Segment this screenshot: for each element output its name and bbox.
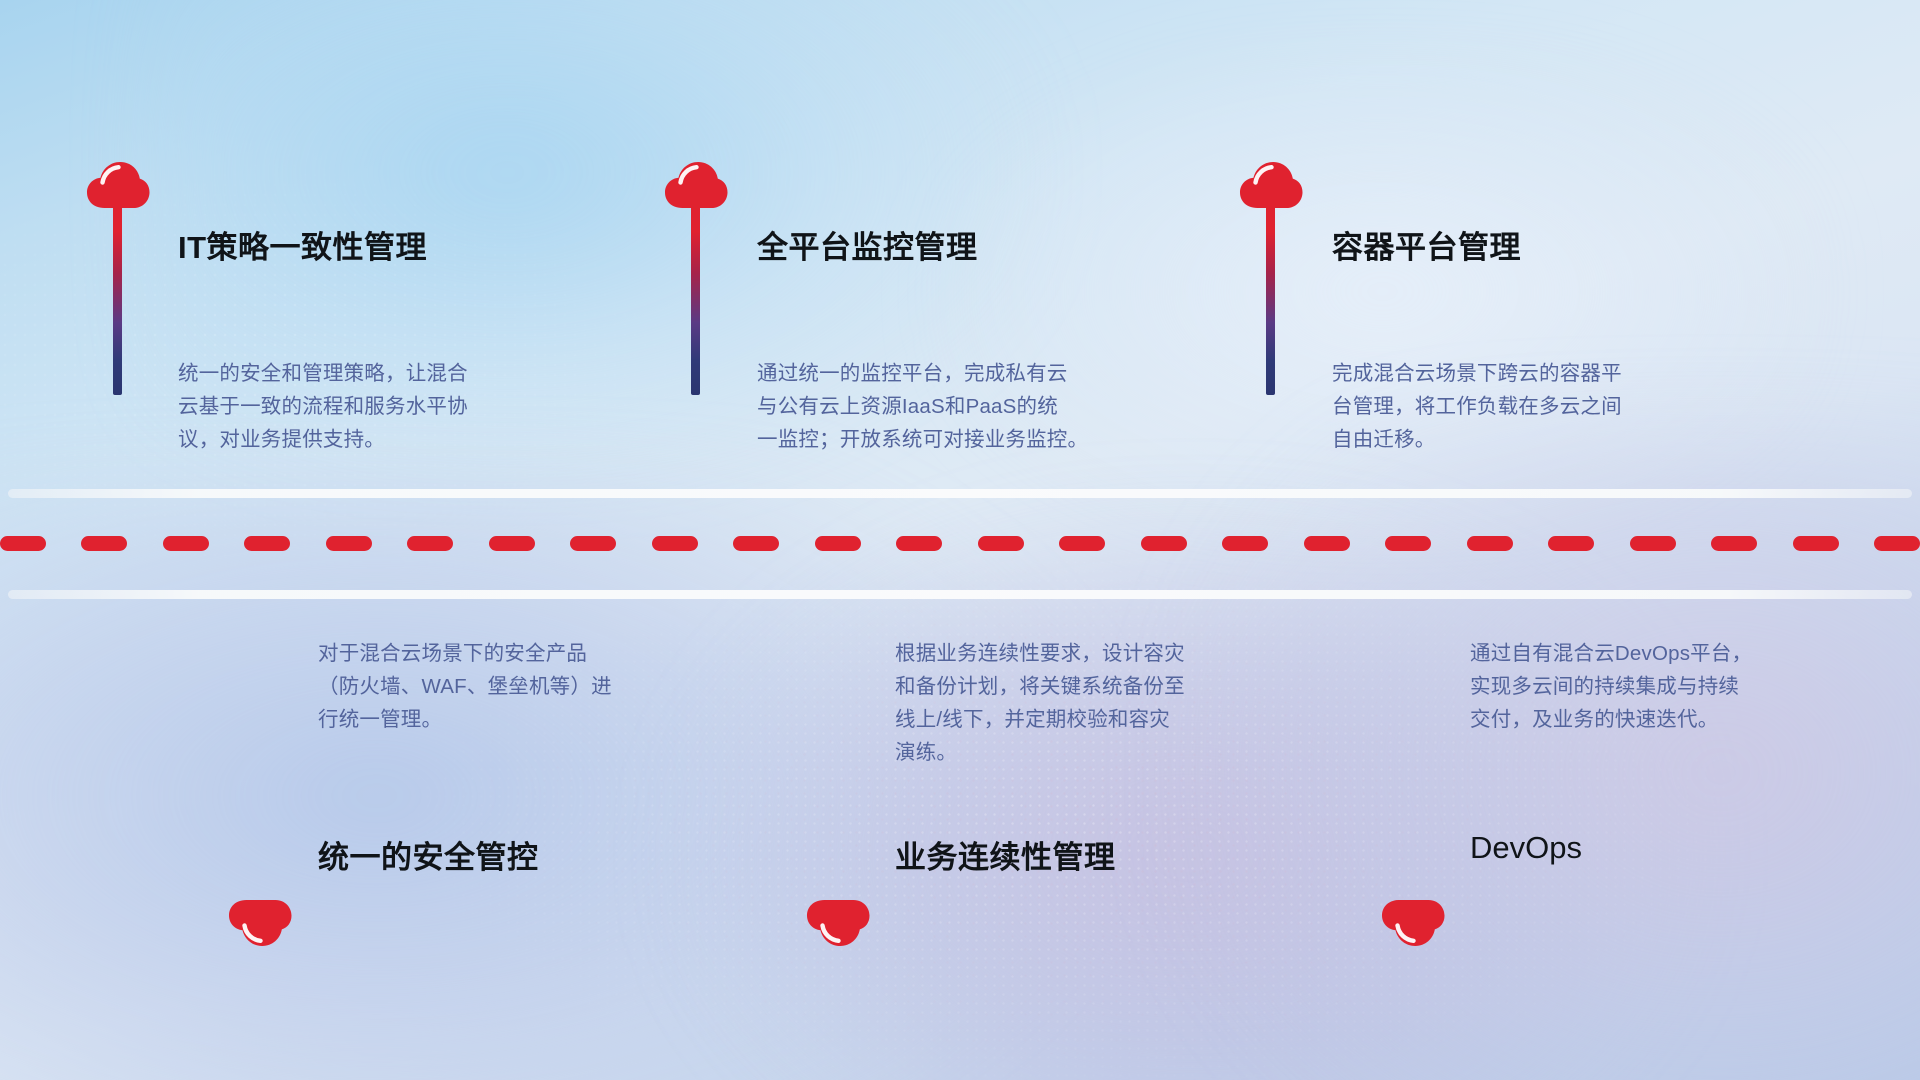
capability-title: 统一的安全管控 — [318, 832, 539, 877]
capability-title: 容器平台管理 — [1332, 222, 1521, 267]
divider-dash — [733, 536, 779, 551]
divider-dash — [1793, 536, 1839, 551]
divider-dash — [1304, 536, 1350, 551]
divider-dash — [1059, 536, 1105, 551]
divider-dash — [81, 536, 127, 551]
stem-connector — [113, 205, 122, 395]
capability-description: 通过统一的监控平台，完成私有云 与公有云上资源IaaS和PaaS的统 一监控；开… — [757, 357, 1187, 456]
cloud-icon — [1380, 898, 1446, 948]
divider-dash — [407, 536, 453, 551]
divider-rail-bottom — [8, 590, 1912, 599]
divider-dash — [1222, 536, 1268, 551]
stem-connector — [1266, 205, 1275, 395]
stem-connector — [691, 205, 700, 395]
divider-dash — [978, 536, 1024, 551]
capability-title: IT策略一致性管理 — [178, 222, 427, 267]
capability-description: 完成混合云场景下跨云的容器平 台管理，将工作负载在多云之间 自由迁移。 — [1332, 357, 1762, 456]
cloud-icon — [227, 898, 293, 948]
divider-dash — [815, 536, 861, 551]
divider-dash — [896, 536, 942, 551]
cloud-icon — [805, 898, 871, 948]
timeline-divider — [0, 489, 1920, 599]
capability-description: 统一的安全和管理策略，让混合 云基于一致的流程和服务水平协 议，对业务提供支持。 — [178, 357, 608, 456]
divider-dash — [489, 536, 535, 551]
capability-description: 根据业务连续性要求，设计容灾 和备份计划，将关键系统备份至 线上/线下，并定期校… — [895, 637, 1325, 769]
cloud-icon — [1238, 160, 1304, 210]
capability-title: DevOps — [1470, 830, 1582, 866]
cloud-icon — [85, 160, 151, 210]
divider-dash — [1385, 536, 1431, 551]
divider-dash — [1874, 536, 1920, 551]
stem-connector — [833, 625, 842, 890]
capability-description: 通过自有混合云DevOps平台， 实现多云间的持续集成与持续 交付，及业务的快速… — [1470, 637, 1900, 736]
divider-dash — [244, 536, 290, 551]
divider-dash — [1711, 536, 1757, 551]
divider-dash — [1141, 536, 1187, 551]
capability-description: 对于混合云场景下的安全产品 （防火墙、WAF、堡垒机等）进 行统一管理。 — [318, 637, 748, 736]
divider-dash — [570, 536, 616, 551]
capability-title: 全平台监控管理 — [757, 222, 978, 267]
divider-dash — [326, 536, 372, 551]
divider-dash — [652, 536, 698, 551]
divider-dash — [1548, 536, 1594, 551]
divider-dashed-line — [0, 536, 1920, 551]
divider-dash — [163, 536, 209, 551]
divider-dash — [0, 536, 46, 551]
divider-dash — [1467, 536, 1513, 551]
stem-connector — [1408, 625, 1417, 890]
divider-rail-top — [8, 489, 1912, 498]
divider-dash — [1630, 536, 1676, 551]
capability-title: 业务连续性管理 — [895, 832, 1116, 877]
cloud-icon — [663, 160, 729, 210]
stem-connector — [255, 625, 264, 890]
